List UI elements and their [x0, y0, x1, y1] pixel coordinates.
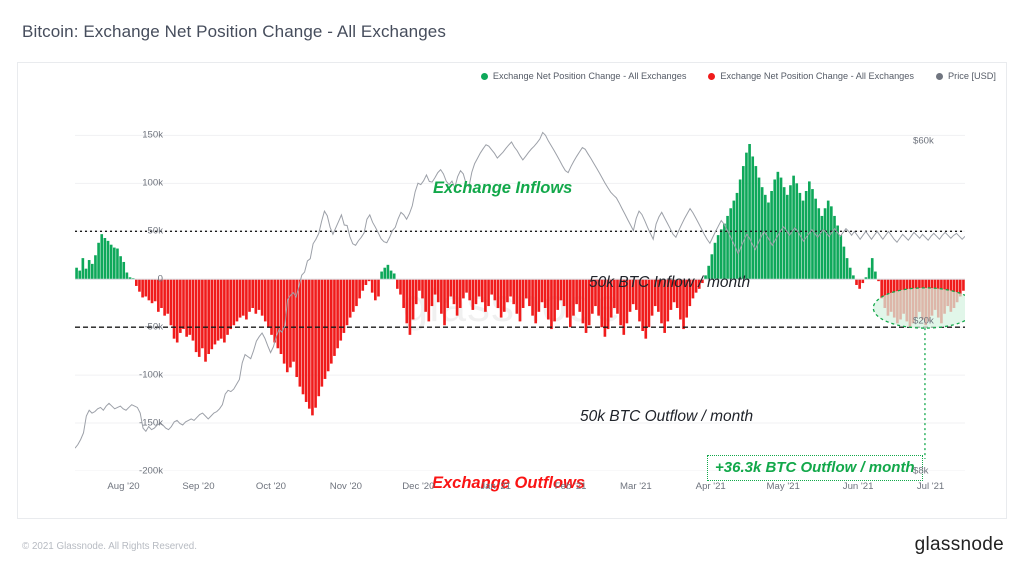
- chart-card: Exchange Net Position Change - All Excha…: [17, 62, 1007, 519]
- copyright-text: © 2021 Glassnode. All Rights Reserved.: [22, 541, 197, 552]
- y-axis-tick-label: 100k: [142, 178, 163, 189]
- x-axis-tick-label: May '21: [767, 481, 800, 492]
- y-axis-tick-label: 150k: [142, 130, 163, 141]
- annotation-inflow-threshold: 50k BTC Inflow / month: [589, 274, 750, 292]
- red-dot-icon: [708, 73, 715, 80]
- legend-label: Price [USD]: [948, 71, 996, 81]
- y2-axis-tick-label: $8k: [913, 466, 928, 477]
- y-axis-tick-label: -50k: [144, 322, 163, 333]
- y-axis-tick-label: -100k: [139, 370, 163, 381]
- x-axis-tick-label: Feb '21: [555, 481, 587, 492]
- y-axis-tick-label: -150k: [139, 418, 163, 429]
- y2-axis-tick-label: $20k: [913, 316, 934, 327]
- plot-svg: [75, 121, 965, 471]
- brand-logo: glassnode: [915, 534, 1004, 556]
- x-axis-tick-label: Mar '21: [620, 481, 652, 492]
- annotation-outflow-threshold: 50k BTC Outflow / month: [580, 408, 753, 426]
- annotation-callout: +36.3k BTC Outflow / month: [707, 455, 923, 481]
- green-dot-icon: [481, 73, 488, 80]
- chart-screenshot: Bitcoin: Exchange Net Position Change - …: [0, 0, 1024, 576]
- x-axis-tick-label: Apr '21: [696, 481, 726, 492]
- annotation-exchange-inflows: Exchange Inflows: [433, 179, 572, 198]
- x-axis-tick-label: Sep '20: [182, 481, 214, 492]
- x-axis-tick-label: Jul '21: [917, 481, 944, 492]
- x-axis-tick-label: Dec '20: [402, 481, 434, 492]
- page-title: Bitcoin: Exchange Net Position Change - …: [22, 22, 446, 42]
- legend-item-outflow[interactable]: Exchange Net Position Change - All Excha…: [708, 71, 914, 81]
- y-axis-tick-label: 50k: [148, 226, 163, 237]
- gray-dot-icon: [936, 73, 943, 80]
- y-axis-tick-label: 0: [158, 274, 163, 285]
- x-axis-tick-label: Jun '21: [843, 481, 874, 492]
- legend-label: Exchange Net Position Change - All Excha…: [720, 71, 914, 81]
- x-axis-tick-label: Aug '20: [107, 481, 139, 492]
- y-axis-tick-label: -200k: [139, 466, 163, 477]
- legend-label: Exchange Net Position Change - All Excha…: [493, 71, 687, 81]
- y2-axis-tick-label: $60k: [913, 136, 934, 147]
- chart-legend: Exchange Net Position Change - All Excha…: [481, 71, 996, 81]
- plot-area: [75, 121, 965, 471]
- legend-item-price[interactable]: Price [USD]: [936, 71, 996, 81]
- x-axis-tick-label: Oct '20: [256, 481, 286, 492]
- x-axis-tick-label: Nov '20: [330, 481, 362, 492]
- legend-item-inflow[interactable]: Exchange Net Position Change - All Excha…: [481, 71, 687, 81]
- x-axis-tick-label: Jan '21: [480, 481, 511, 492]
